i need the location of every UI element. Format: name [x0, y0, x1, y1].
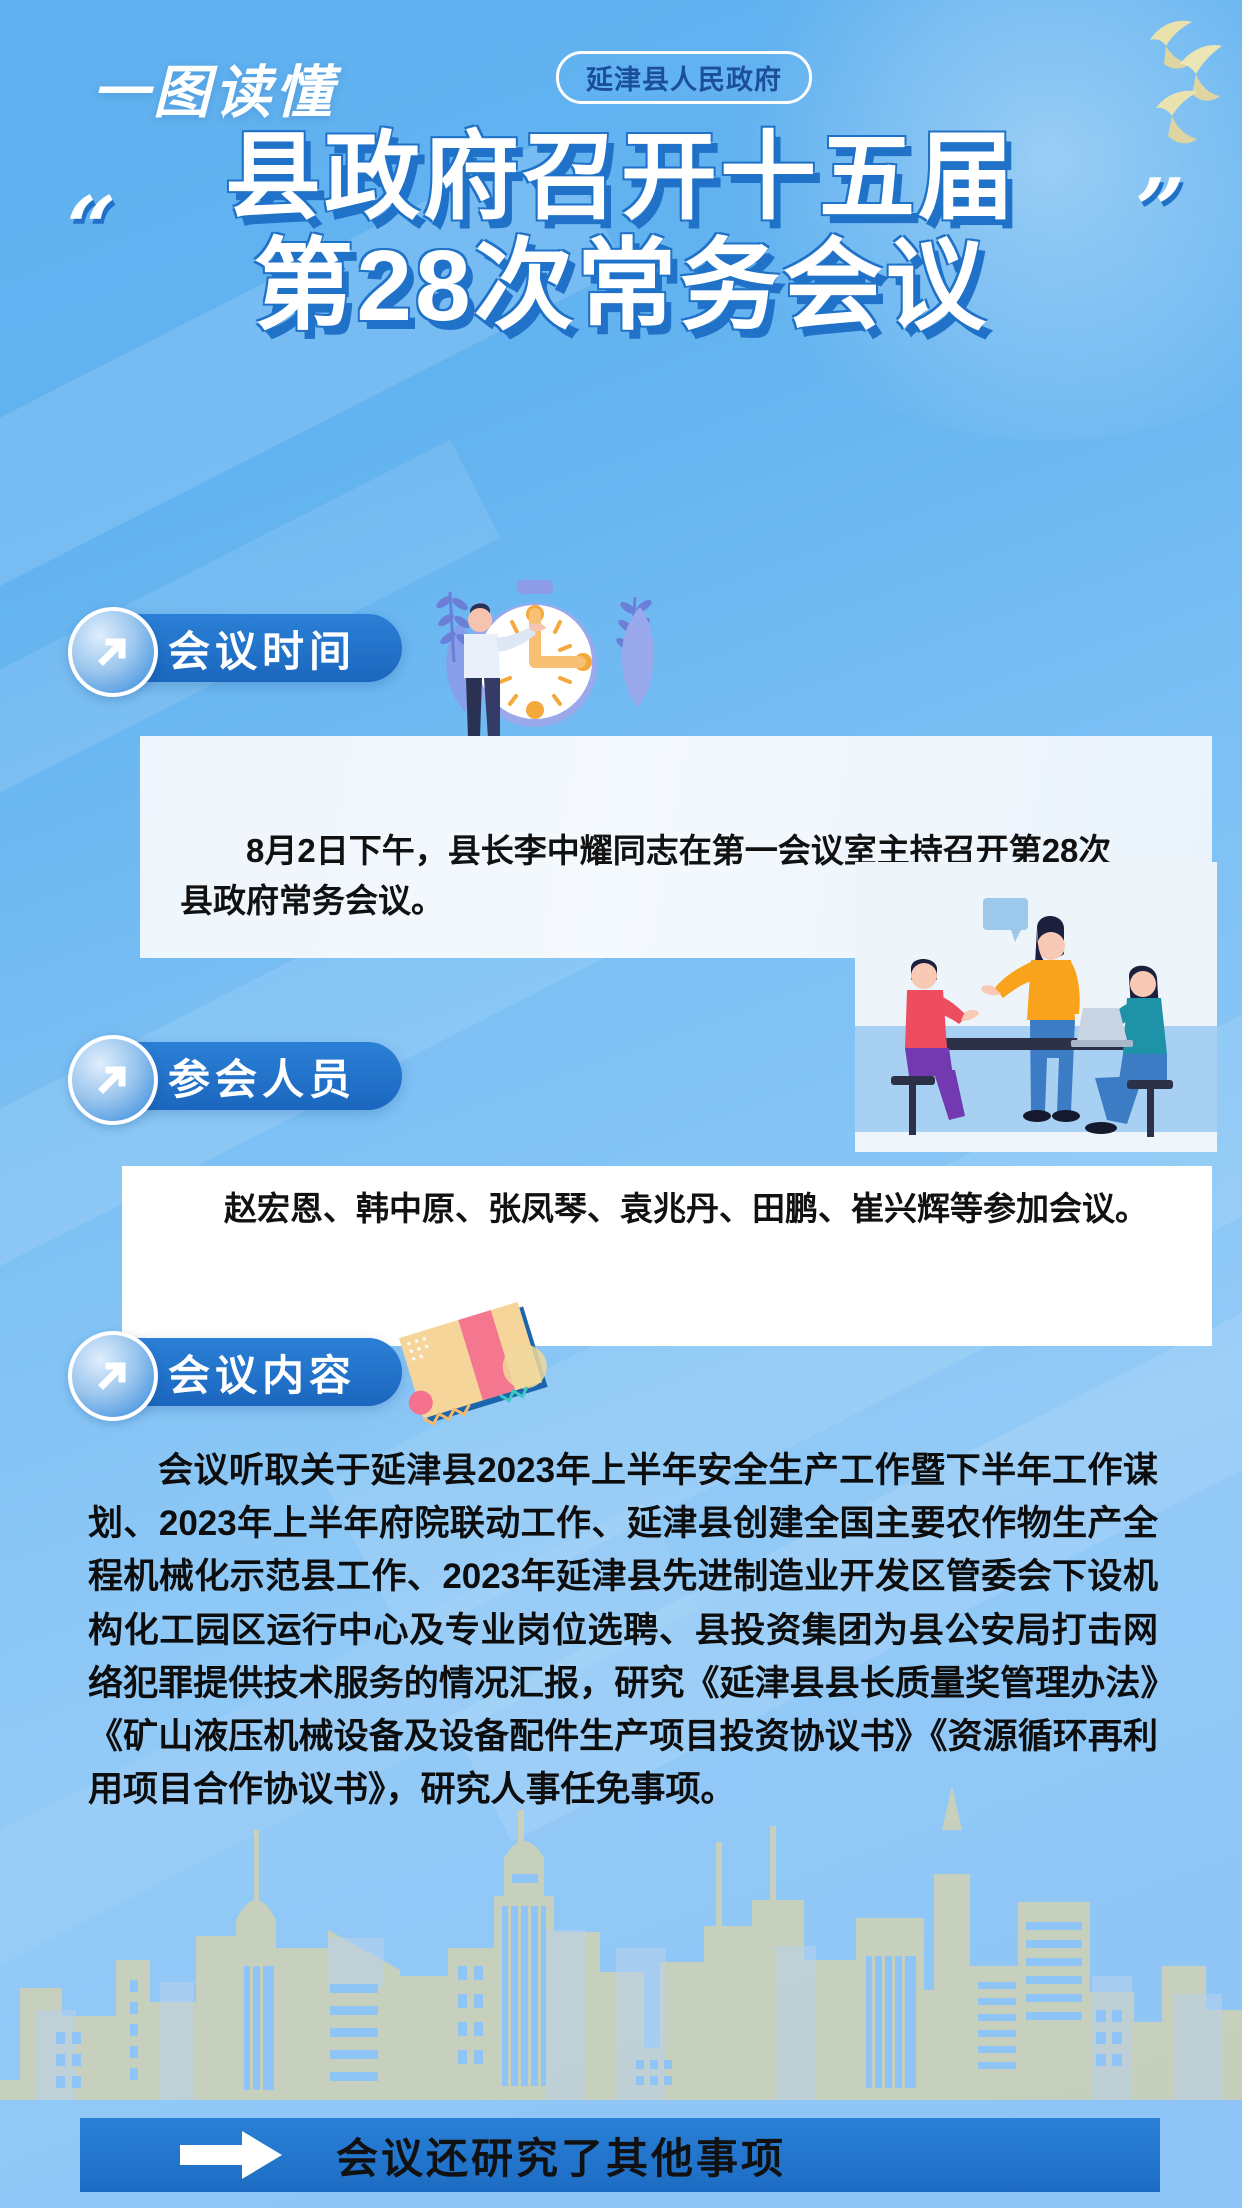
section-badge-label: 参会人员: [168, 1046, 356, 1107]
section-badge-meeting-time[interactable]: 会议时间: [84, 614, 402, 682]
arrow-up-right-icon: [68, 1035, 158, 1125]
content-text-meeting-content: 会议听取关于延津县2023年上半年安全生产工作暨下半年工作谋划、2023年上半年…: [88, 1444, 1158, 1816]
arrow-right-icon: [176, 2129, 288, 2181]
section-badge-meeting-content[interactable]: 会议内容: [84, 1338, 402, 1406]
government-name: 延津县人民政府: [586, 58, 782, 97]
title-line-2: 第28次常务会议: [0, 234, 1242, 338]
stopwatch-person-illustration: [420, 552, 750, 762]
title-line-1: 县政府召开十五届: [0, 128, 1242, 228]
meeting-people-illustration: [855, 862, 1242, 1152]
government-badge: 延津县人民政府: [556, 51, 812, 104]
envelope-illustration: [372, 1290, 572, 1440]
arrow-up-right-icon: [68, 607, 158, 697]
kicker-label: 一图读懂: [92, 47, 336, 129]
section-badge-label: 会议时间: [168, 618, 356, 679]
section-badge-attendees[interactable]: 参会人员: [84, 1042, 402, 1110]
content-text-attendees: 赵宏恩、韩中原、张凤琴、袁兆丹、田鹏、崔兴辉等参加会议。: [158, 1184, 1178, 1234]
footer-label: 会议还研究了其他事项: [336, 2125, 786, 2186]
arrow-up-right-icon: [68, 1331, 158, 1421]
infographic-poster: 一图读懂 延津县人民政府 “ ” 县政府召开十五届 第28次常务会议: [0, 0, 1242, 2208]
section-badge-label: 会议内容: [168, 1342, 356, 1403]
city-skyline-illustration: [0, 1770, 1242, 2100]
footer-bar[interactable]: 会议还研究了其他事项: [80, 2118, 1160, 2192]
page-title: 县政府召开十五届 第28次常务会议: [0, 128, 1242, 338]
